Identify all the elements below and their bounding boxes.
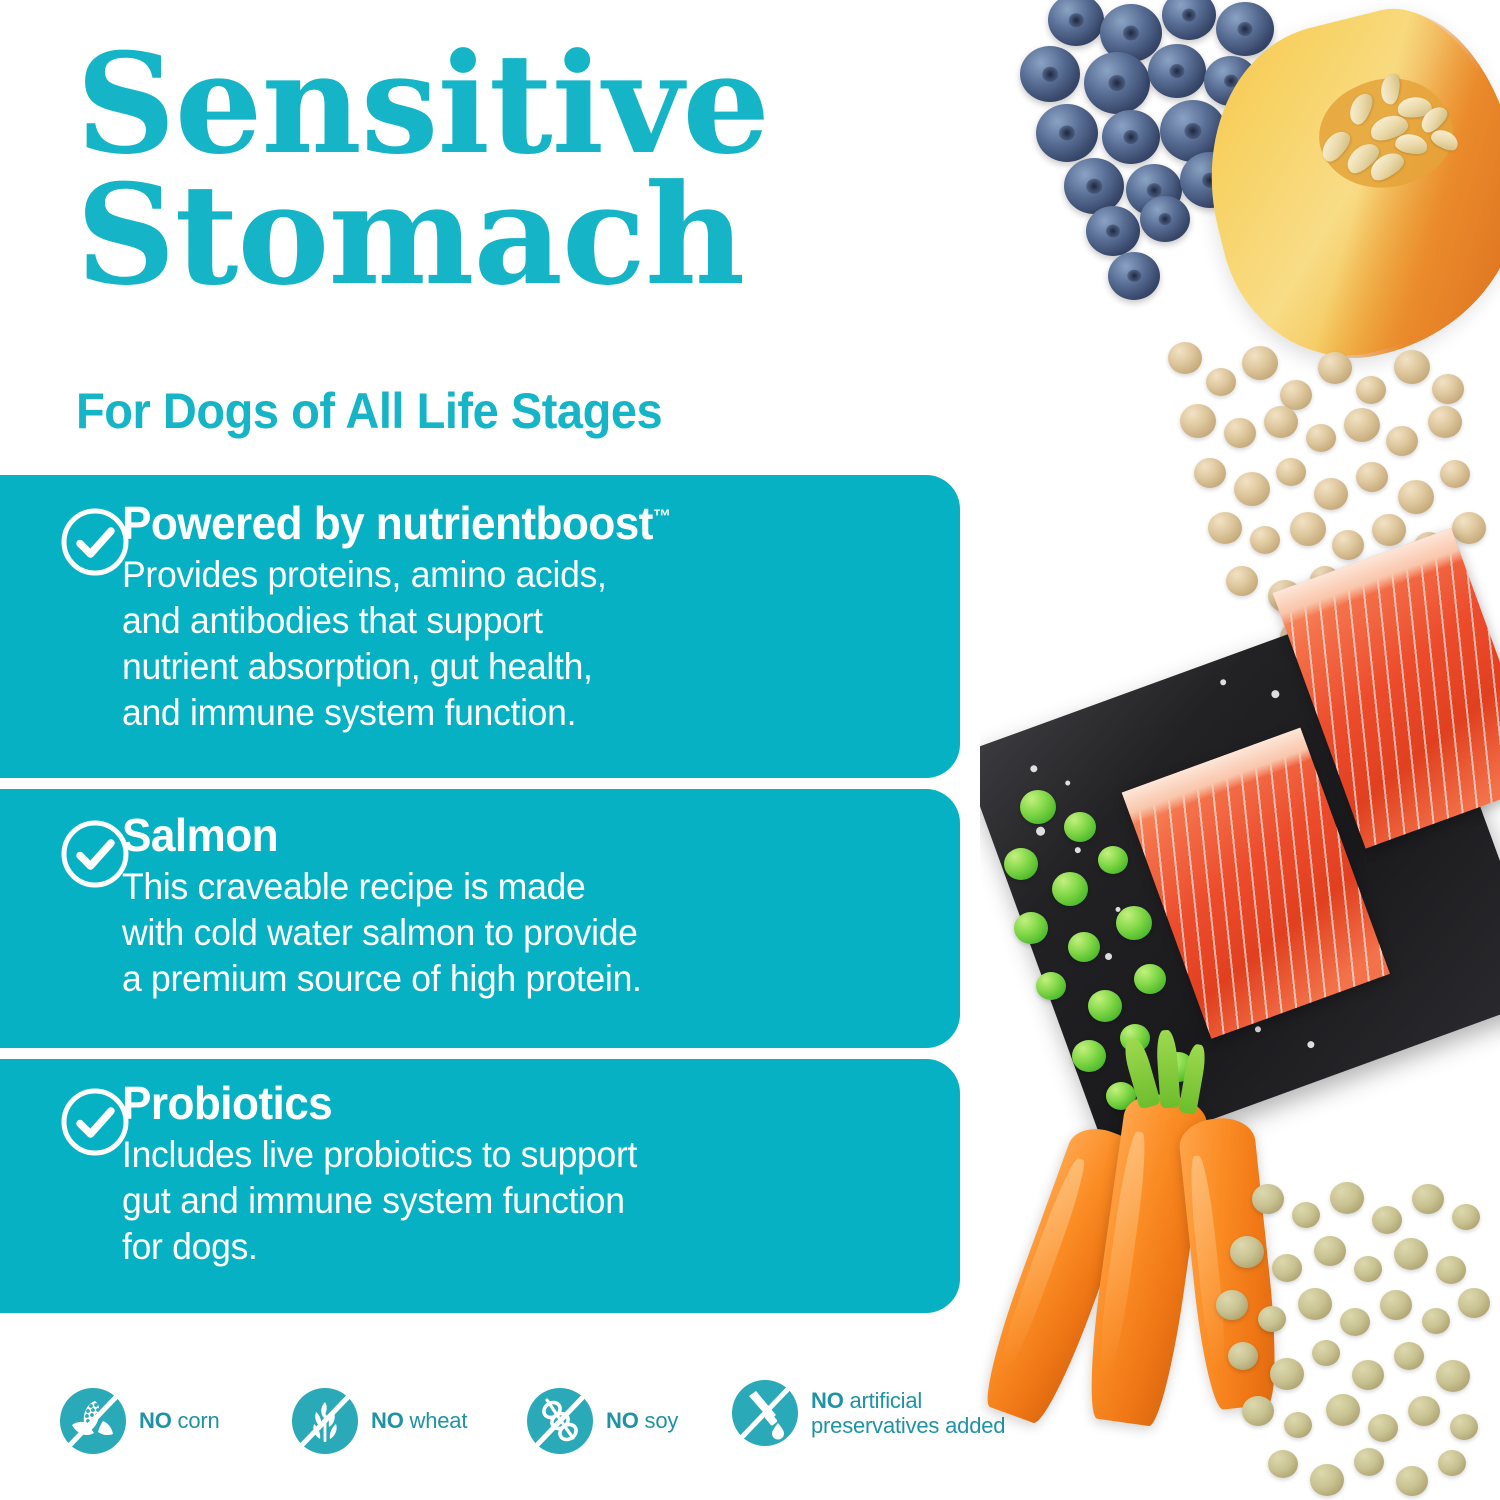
title-line-1: Sensitive — [76, 38, 906, 169]
claims-badge-row: NO corn — [60, 1372, 1070, 1482]
feature-card-body: Probiotics Includes live probiotics to s… — [122, 1079, 924, 1270]
check-circle-icon — [58, 505, 132, 579]
badge-label: NO wheat — [371, 1408, 467, 1433]
badge-no-wheat: NO wheat — [292, 1388, 467, 1454]
ingredient-photography — [980, 0, 1500, 1500]
feature-card-nutrientboost: Powered by nutrientboost™ Provides prote… — [0, 475, 960, 778]
feature-description: This craveable recipe is made with cold … — [122, 864, 892, 1002]
infographic-root: Sensitive Stomach For Dogs of All Life S… — [0, 0, 1500, 1500]
no-corn-icon — [60, 1388, 126, 1454]
feature-card-body: Salmon This craveable recipe is made wit… — [122, 811, 924, 1002]
trademark-symbol: ™ — [653, 507, 671, 528]
badge-label: NO soy — [606, 1408, 678, 1433]
no-preservatives-icon — [732, 1380, 798, 1446]
badge-no-artificial-preservatives: NO artificial preservatives added — [732, 1380, 1005, 1446]
feature-description: Provides proteins, amino acids, and anti… — [122, 552, 892, 736]
check-circle-icon — [58, 1085, 132, 1159]
feature-description: Includes live probiotics to support gut … — [122, 1132, 892, 1270]
badge-label: NO artificial preservatives added — [811, 1388, 1005, 1438]
feature-heading: Powered by nutrientboost™ — [122, 499, 892, 547]
feature-heading: Probiotics — [122, 1079, 892, 1127]
feature-card-body: Powered by nutrientboost™ Provides prote… — [122, 499, 924, 736]
feature-card-probiotics: Probiotics Includes live probiotics to s… — [0, 1059, 960, 1313]
badge-label: NO corn — [139, 1408, 220, 1433]
feature-card-salmon: Salmon This craveable recipe is made wit… — [0, 789, 960, 1048]
check-circle-icon — [58, 817, 132, 891]
no-wheat-icon — [292, 1388, 358, 1454]
content-column: Sensitive Stomach For Dogs of All Life S… — [0, 0, 1000, 1500]
page-subtitle: For Dogs of All Life Stages — [76, 382, 662, 440]
no-soy-icon — [527, 1388, 593, 1454]
title-line-2: Stomach — [76, 169, 906, 300]
badge-no-corn: NO corn — [60, 1388, 220, 1454]
badge-no-soy: NO soy — [527, 1388, 678, 1454]
feature-heading: Salmon — [122, 811, 892, 859]
page-title: Sensitive Stomach — [76, 38, 906, 300]
